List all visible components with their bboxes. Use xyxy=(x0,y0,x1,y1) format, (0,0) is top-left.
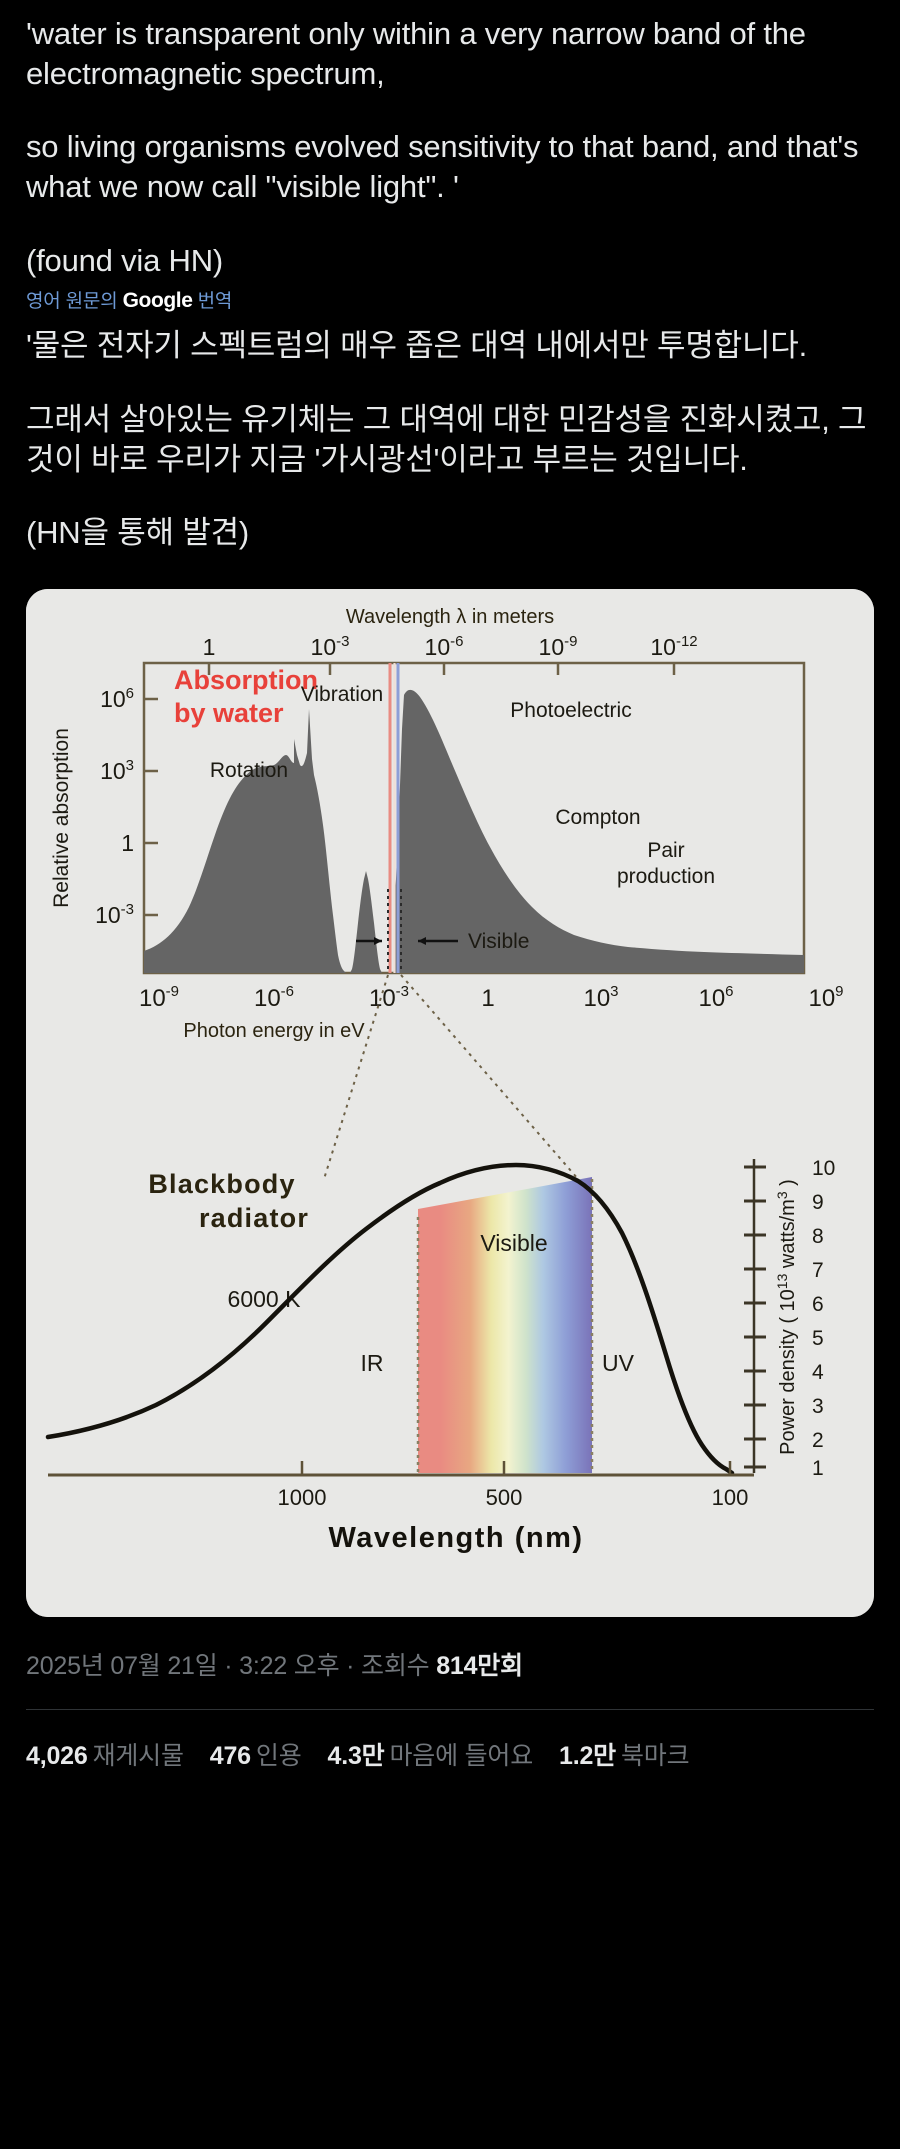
svg-text:10: 10 xyxy=(812,1157,835,1180)
paragraph-gap xyxy=(26,207,874,241)
translate-suffix: 번역 xyxy=(198,291,233,312)
post-date: 2025년 07월 21일 xyxy=(26,1652,218,1680)
svg-text:9: 9 xyxy=(812,1191,824,1214)
svg-text:8: 8 xyxy=(812,1225,824,1248)
svg-text:6: 6 xyxy=(812,1293,824,1316)
svg-text:2: 2 xyxy=(812,1429,824,1452)
stat-bookmarks-label: 북마크 xyxy=(621,1742,689,1770)
annotation-absorption-line2: by water xyxy=(174,698,284,728)
google-brand-label: Google xyxy=(123,289,193,312)
stat-reposts[interactable]: 4,026재게시물 xyxy=(26,1736,184,1772)
band-label-visible: Visible xyxy=(480,1230,547,1256)
stat-likes-value: 4.3만 xyxy=(328,1742,385,1770)
views-label: 조회수 xyxy=(361,1652,429,1680)
post-timestamp-row: 2025년 07월 21일 · 3:22 오후 · 조회수 814만회 xyxy=(0,1617,900,1681)
english-paragraph-1: 'water is transparent only within a very… xyxy=(26,14,874,93)
korean-source-note: (HN을 통해 발견) xyxy=(26,513,874,553)
annotation-compton: Compton xyxy=(555,806,640,829)
top-y-axis-label: Relative absorption xyxy=(50,728,73,908)
tweet-post: 'water is transparent only within a very… xyxy=(0,0,900,2149)
stat-bookmarks-value: 1.2만 xyxy=(559,1742,616,1770)
english-paragraph-2: so living organisms evolved sensitivity … xyxy=(26,127,874,206)
svg-text:1: 1 xyxy=(121,830,134,856)
translate-attribution[interactable]: 영어 원문의 Google 번역 xyxy=(0,280,900,314)
blackbody-title-line1: Blackbody xyxy=(148,1169,295,1199)
paragraph-gap xyxy=(26,366,874,400)
svg-text:1: 1 xyxy=(812,1457,824,1480)
svg-text:4: 4 xyxy=(812,1361,824,1384)
annotation-rotation: Rotation xyxy=(210,759,288,782)
svg-text:500: 500 xyxy=(486,1485,523,1510)
paragraph-gap xyxy=(26,479,874,513)
svg-text:3: 3 xyxy=(812,1395,824,1418)
stat-quotes[interactable]: 476인용 xyxy=(210,1736,302,1772)
stat-likes[interactable]: 4.3만마음에 들어요 xyxy=(328,1736,534,1772)
power-axis-label: Power density ( 1013 watts/m3 ) xyxy=(774,1179,799,1455)
stat-bookmarks[interactable]: 1.2만북마크 xyxy=(559,1736,689,1772)
spectrum-figure: Wavelength λ in meters 1 10-3 10-6 10-9 … xyxy=(26,589,874,1617)
views-count: 814만회 xyxy=(436,1652,523,1680)
translate-prefix: 영어 원문의 xyxy=(26,291,117,312)
stat-reposts-value: 4,026 xyxy=(26,1742,88,1770)
timestamp-separator-1: · xyxy=(224,1652,232,1680)
svg-text:5: 5 xyxy=(812,1327,824,1350)
korean-paragraph-2: 그래서 살아있는 유기체는 그 대역에 대한 민감성을 진화시켰고, 그것이 바… xyxy=(26,400,874,479)
annotation-visible-top: Visible xyxy=(468,930,529,953)
lower-axis-title: Wavelength (nm) xyxy=(328,1522,583,1554)
annotation-pair-line2: production xyxy=(617,865,715,888)
annotation-photoelectric: Photoelectric xyxy=(510,699,631,722)
annotation-pair-line1: Pair xyxy=(647,839,684,862)
annotation-absorption-line1: Absorption xyxy=(174,665,318,695)
svg-text:1: 1 xyxy=(203,634,216,660)
post-time: 3:22 오후 xyxy=(239,1652,339,1680)
svg-text:1000: 1000 xyxy=(278,1485,327,1510)
stat-quotes-label: 인용 xyxy=(256,1742,302,1770)
stat-reposts-label: 재게시물 xyxy=(93,1742,184,1770)
svg-text:1: 1 xyxy=(481,985,494,1012)
post-image-card[interactable]: Wavelength λ in meters 1 10-3 10-6 10-9 … xyxy=(26,589,874,1617)
post-text-korean: '물은 전자기 스펙트럼의 매우 좁은 대역 내에서만 투명합니다. 그래서 살… xyxy=(0,314,900,553)
korean-paragraph-1: '물은 전자기 스펙트럼의 매우 좁은 대역 내에서만 투명합니다. xyxy=(26,326,874,366)
svg-text:100: 100 xyxy=(712,1485,749,1510)
band-label-uv: UV xyxy=(602,1350,635,1376)
paragraph-gap xyxy=(26,93,874,127)
visible-spectrum-band xyxy=(418,1177,592,1473)
top-axis-title: Wavelength λ in meters xyxy=(346,606,554,628)
engagement-stats-row: 4,026재게시물 476인용 4.3만마음에 들어요 1.2만북마크 xyxy=(0,1710,900,1798)
bottom-axis-title: Photon energy in eV xyxy=(183,1020,365,1042)
band-label-ir: IR xyxy=(361,1350,384,1376)
english-source-note: (found via HN) xyxy=(26,241,874,281)
stat-likes-label: 마음에 들어요 xyxy=(389,1742,533,1770)
stat-quotes-value: 476 xyxy=(210,1742,251,1770)
blackbody-title-line2: radiator xyxy=(199,1203,309,1233)
svg-text:7: 7 xyxy=(812,1259,824,1282)
timestamp-separator-2: · xyxy=(346,1652,354,1680)
annotation-vibration: Vibration xyxy=(301,683,384,706)
post-text-english: 'water is transparent only within a very… xyxy=(0,0,900,280)
